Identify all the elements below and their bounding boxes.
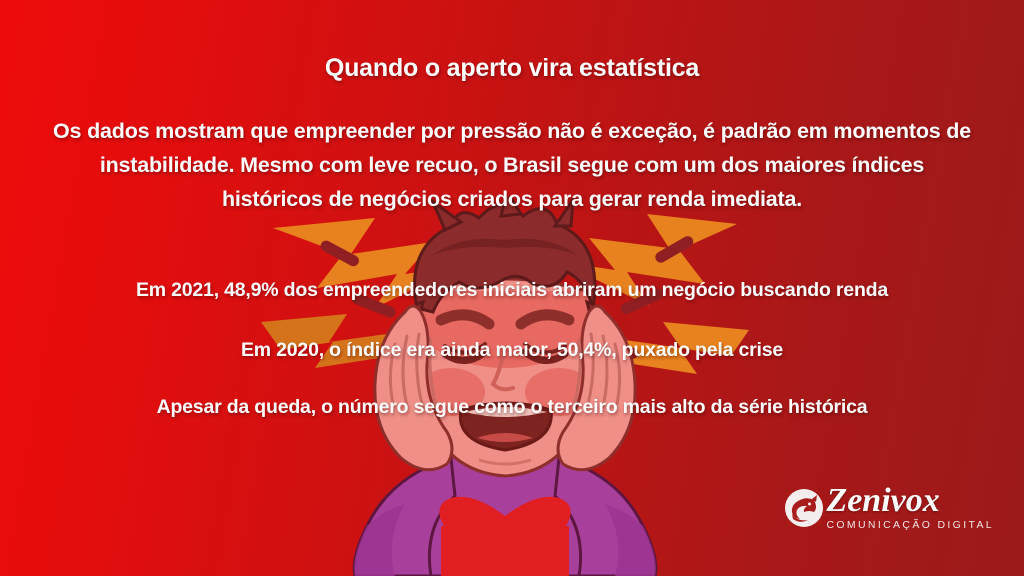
- logo-name: Zenivox: [826, 484, 994, 518]
- stat-line-2: Em 2020, o índice era ainda maior, 50,4%…: [0, 337, 1024, 363]
- lead-paragraph: Os dados mostram que empreender por pres…: [47, 114, 977, 216]
- logo-tagline: COMUNICAÇÃO DIGITAL: [826, 519, 994, 532]
- stat-line-1: Em 2021, 48,9% dos empreendedores inicia…: [0, 277, 1024, 303]
- wolf-head-circle-icon: [784, 488, 824, 528]
- slide-canvas: Quando o aperto vira estatística Os dado…: [0, 0, 1024, 576]
- stat-line-3: Apesar da queda, o número segue como o t…: [0, 394, 1024, 420]
- page-title: Quando o aperto vira estatística: [0, 52, 1024, 84]
- brand-logo: Zenivox COMUNICAÇÃO DIGITAL: [784, 484, 994, 532]
- logo-wordmark: Zenivox COMUNICAÇÃO DIGITAL: [826, 484, 994, 532]
